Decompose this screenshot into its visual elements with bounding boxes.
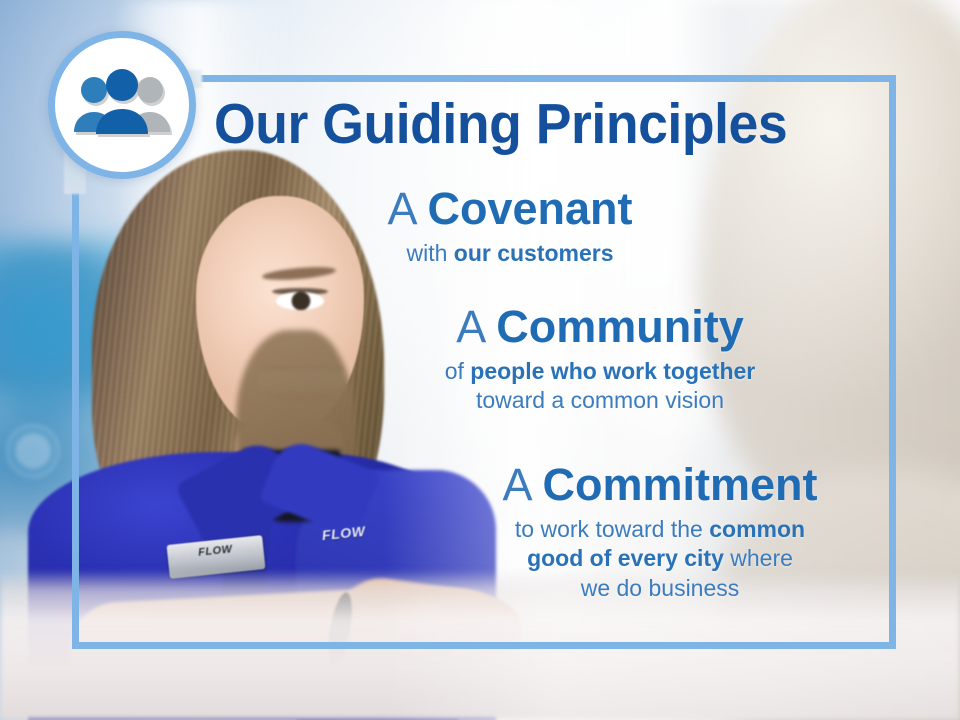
plain-text: with	[406, 240, 453, 266]
principle-article: A	[502, 459, 542, 510]
page-title: Our Guiding Principles	[214, 96, 825, 153]
principle-community: A Communityof people who work togetherto…	[380, 304, 820, 416]
principle-article: A	[456, 301, 496, 352]
emphasis-text: common	[709, 516, 805, 542]
principle-description-line: good of every city where	[440, 544, 880, 573]
principle-description-covenant: with our customers	[330, 239, 690, 268]
principle-description-line: with our customers	[330, 239, 690, 268]
guiding-principles-graphic: FLOW FLOW	[0, 0, 960, 720]
principle-keyword: Covenant	[428, 183, 633, 234]
principle-article: A	[387, 183, 427, 234]
principle-keyword: Community	[496, 301, 744, 352]
emphasis-text: our customers	[454, 240, 614, 266]
emphasis-text: people who work together	[470, 358, 755, 384]
people-group-icon	[70, 68, 174, 142]
plain-text: we do business	[581, 575, 740, 601]
principle-description-commitment: to work toward the commongood of every c…	[440, 515, 880, 603]
principle-keyword: Commitment	[543, 459, 818, 510]
people-group-badge	[48, 31, 196, 179]
principle-description-line: toward a common vision	[380, 386, 820, 415]
principle-covenant: A Covenantwith our customers	[330, 186, 690, 268]
associate-eye	[276, 292, 324, 310]
vehicle-emblem	[6, 424, 60, 478]
principle-description-line: to work toward the common	[440, 515, 880, 544]
principle-heading-covenant: A Covenant	[330, 186, 690, 232]
plain-text: to work toward the	[515, 516, 709, 542]
plain-text: where	[724, 545, 793, 571]
principle-heading-commitment: A Commitment	[440, 462, 880, 508]
principle-description-community: of people who work togethertoward a comm…	[380, 357, 820, 416]
plain-text: of	[445, 358, 471, 384]
principle-description-line: we do business	[440, 574, 880, 603]
emphasis-text: good of every city	[527, 545, 724, 571]
principle-commitment: A Commitmentto work toward the commongoo…	[440, 462, 880, 603]
plain-text: toward a common vision	[476, 387, 724, 413]
name-badge-text: FLOW	[167, 540, 264, 562]
principle-heading-community: A Community	[380, 304, 820, 350]
principle-description-line: of people who work together	[380, 357, 820, 386]
